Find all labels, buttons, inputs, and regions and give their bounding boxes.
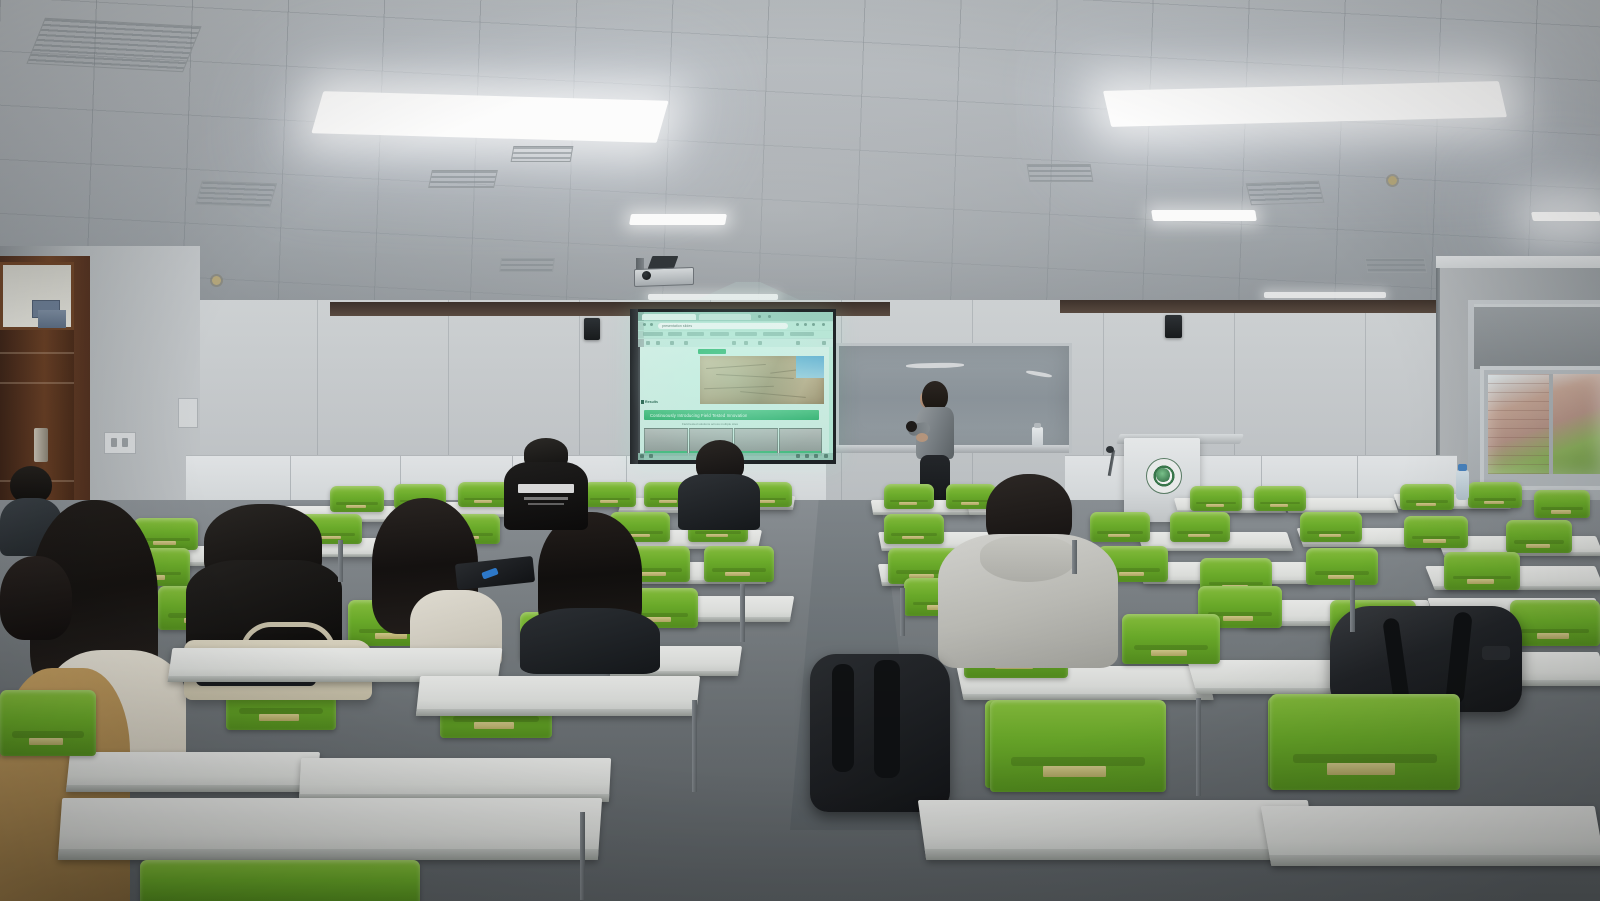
battery-icon[interactable] [814,454,818,458]
sprinkler-head-icon [212,276,221,285]
door-handle[interactable] [34,428,48,462]
chair[interactable] [884,484,934,509]
results-section-label: Results [645,400,658,404]
student-head [0,556,72,640]
ceiling-light-panel-corner [1531,212,1600,221]
start-menu-icon[interactable] [640,454,644,458]
redo-icon[interactable] [656,341,660,345]
chair[interactable] [1444,552,1520,590]
network-icon[interactable] [796,454,800,458]
shape-tool-icon[interactable] [732,341,736,345]
projection-screen: presentation slides [636,312,833,460]
wall-notice-plate [38,310,66,328]
ceiling-air-vent [1365,258,1428,273]
back-arrow-icon[interactable] [643,323,646,326]
desk-mid [416,676,700,716]
desk-leg [1072,540,1077,574]
chair[interactable] [1506,520,1572,553]
slide-top-ribbon [698,349,726,354]
backpack-buckle [1482,646,1510,660]
wall-speaker-right [1165,315,1182,338]
student-center-back [678,440,760,530]
desk-leg [900,588,905,636]
bookmark-item[interactable] [687,332,704,336]
clock-display [824,454,828,458]
desk-foreground [1261,806,1600,866]
student-urbanage-cap [504,438,588,530]
university-seal-center [1156,468,1170,482]
desk-foreground [58,798,602,860]
ceiling-air-vent [499,258,555,272]
comment-icon[interactable] [758,341,762,345]
light-switch-panel[interactable] [104,432,136,454]
chair[interactable] [1400,484,1454,510]
ceiling-air-vent [1027,164,1094,182]
desk-foreground [299,758,611,802]
chair[interactable] [704,546,774,582]
lecture-hall-photo: presentation slides [0,0,1600,901]
results-bullet-icon [641,400,644,404]
chair[interactable] [884,514,944,544]
slide-green-banner: Continuously Introducing Field Tested In… [644,410,819,420]
url-text: presentation slides [662,324,692,328]
desk-leg [1350,580,1355,632]
slide-subcaption: Field tested solutions across multiple s… [682,422,738,426]
desk-leg [580,812,585,900]
desk-leg [692,700,697,792]
chair[interactable] [1300,512,1362,542]
chair[interactable] [1510,600,1600,646]
shirt-print-sub [524,497,568,500]
chair[interactable] [140,860,420,901]
presenter-remote [906,421,917,432]
ceiling-air-vent [26,18,201,72]
new-tab-icon[interactable] [758,315,761,318]
chair[interactable] [584,482,636,507]
student-body [678,474,760,530]
browser-tab-secondary[interactable] [699,314,751,320]
shirt-print-sub [528,503,564,505]
chair[interactable] [1254,486,1306,511]
bookmark-item[interactable] [735,332,757,336]
chair[interactable] [1306,548,1378,585]
bookmark-item[interactable] [790,332,814,336]
chair[interactable] [1190,486,1242,511]
profile-icon[interactable] [812,323,815,326]
bookmark-item[interactable] [710,332,729,336]
bookmark-item[interactable] [668,332,682,336]
presenter-hand [916,433,928,442]
slide-hero-image-sky [796,356,824,378]
ceiling-light-panel-mid-left [629,214,727,225]
bookmark-star-icon[interactable] [796,323,799,326]
image-tool-icon[interactable] [744,341,748,345]
sprinkler-head-icon [1388,176,1397,185]
student-body [504,462,588,530]
more-options-icon[interactable] [822,341,826,345]
ceiling-air-vent [195,181,277,208]
desk-leg [338,540,343,582]
student-mid-longhair-2 [520,512,660,672]
search-icon[interactable] [649,454,653,458]
student-body [520,608,660,674]
chair[interactable] [1270,694,1460,790]
chair[interactable] [0,690,96,756]
ceiling-air-vent [1246,181,1325,206]
undo-icon[interactable] [646,341,650,345]
chair[interactable] [990,700,1166,792]
wall-speaker-left [584,318,600,340]
ceiling-air-vent [511,146,574,162]
student-right-gray-hoodie [938,474,1118,668]
extensions-icon[interactable] [804,323,807,326]
podium-microphone [1106,446,1114,453]
forward-arrow-icon[interactable] [650,323,653,326]
desk-leg [1196,698,1201,796]
ceiling-light-wash [0,0,1600,322]
window-roller-blind[interactable] [1474,304,1600,369]
volume-icon[interactable] [805,454,809,458]
student-hood [980,536,1076,582]
desk-foreground [66,752,320,792]
water-bottle-desk-right [1456,470,1469,500]
chair[interactable] [1404,516,1468,548]
ceiling-light-panel-far-right [1264,292,1386,298]
chair[interactable] [1534,490,1590,518]
screen-frame-left [630,309,638,464]
text-tool-icon[interactable] [684,341,688,345]
desk-leg [740,584,745,642]
water-bottle-cap-right [1458,464,1467,471]
ceiling-air-vent [428,170,498,188]
slide-banner-text: Continuously Introducing Field Tested In… [644,413,747,418]
bookmark-item[interactable] [763,332,784,336]
desk-foreground [918,800,1316,860]
share-icon[interactable] [796,341,800,345]
tab-overflow-icon[interactable] [768,315,771,318]
wall-header-beam-right [1060,300,1460,313]
browser-tab-active[interactable] [642,314,696,320]
window-mullion [1549,374,1553,474]
zoom-icon[interactable] [670,341,674,345]
bookmark-item[interactable] [643,332,663,336]
water-bottle-cap [1034,423,1041,428]
chair[interactable] [1468,482,1522,508]
window-view-brick-building [1488,374,1550,474]
browser-menu-icon[interactable] [822,323,825,326]
water-bottle-on-ledge [1032,427,1043,447]
chair[interactable] [1122,614,1220,664]
backpack-floor-center [810,654,950,812]
projector-lens-icon [642,271,651,280]
ceiling-light-panel-mid-right [1151,210,1257,221]
shirt-print-text [518,484,574,493]
wall-outlet-plate [178,398,198,428]
slide-thumbnail [779,428,822,456]
chair[interactable] [1170,512,1230,542]
